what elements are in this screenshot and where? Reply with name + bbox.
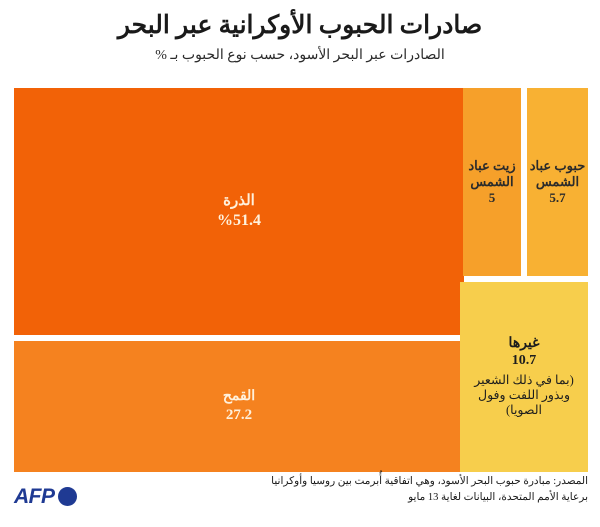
treemap-cell-maize[interactable]: الذرة %51.4	[14, 88, 464, 335]
treemap-cell-other[interactable]: غيرها 10.7 (بما في ذلك الشعير وبذور اللف…	[460, 282, 588, 472]
treemap-cell-note: (بما في ذلك الشعير وبذور اللفت وفول الصو…	[466, 373, 582, 418]
source-note-line-2: برعاية الأمم المتحدة، البيانات لغاية 13 …	[158, 490, 588, 506]
page-subtitle: الصادرات عبر البحر الأسود، حسب نوع الحبو…	[0, 41, 600, 65]
infographic-page: صادرات الحبوب الأوكرانية عبر البحر الصاد…	[0, 0, 600, 527]
treemap-cell-label: زيت عباد الشمس	[463, 158, 521, 189]
treemap-cell-value: 10.7	[512, 353, 537, 370]
treemap-cell-value: 5.7	[549, 190, 565, 206]
treemap-cell-label: القمح	[223, 389, 255, 406]
afp-logo-text: AFP	[14, 486, 55, 507]
treemap-cell-label: غيرها	[509, 336, 540, 353]
treemap-cell-sunflower-oil[interactable]: زيت عباد الشمس 5	[463, 88, 521, 276]
treemap-cell-value: 27.2	[226, 406, 252, 424]
treemap-cell-wheat[interactable]: القمح 27.2	[14, 341, 464, 472]
page-title: صادرات الحبوب الأوكرانية عبر البحر	[0, 0, 600, 41]
treemap-cell-value: 5	[489, 190, 496, 206]
source-note: المصدر: مبادرة حبوب البحر الأسود، وهي ات…	[158, 474, 588, 507]
treemap-chart: الذرة %51.4 القمح 27.2 غيرها 10.7 (بما ف…	[14, 88, 588, 472]
treemap-cell-value: %51.4	[217, 211, 261, 230]
afp-logo-dot-icon	[58, 487, 77, 506]
afp-logo: AFP	[14, 486, 77, 507]
treemap-cell-label: حبوب عباد الشمس	[527, 158, 588, 189]
treemap-cell-sunflower-seeds[interactable]: حبوب عباد الشمس 5.7	[527, 88, 588, 276]
treemap-cell-label: الذرة	[223, 193, 255, 211]
chart-header: صادرات الحبوب الأوكرانية عبر البحر الصاد…	[0, 0, 600, 82]
chart-footer: المصدر: مبادرة حبوب البحر الأسود، وهي ات…	[0, 472, 600, 527]
source-note-line-1: المصدر: مبادرة حبوب البحر الأسود، وهي ات…	[158, 474, 588, 490]
